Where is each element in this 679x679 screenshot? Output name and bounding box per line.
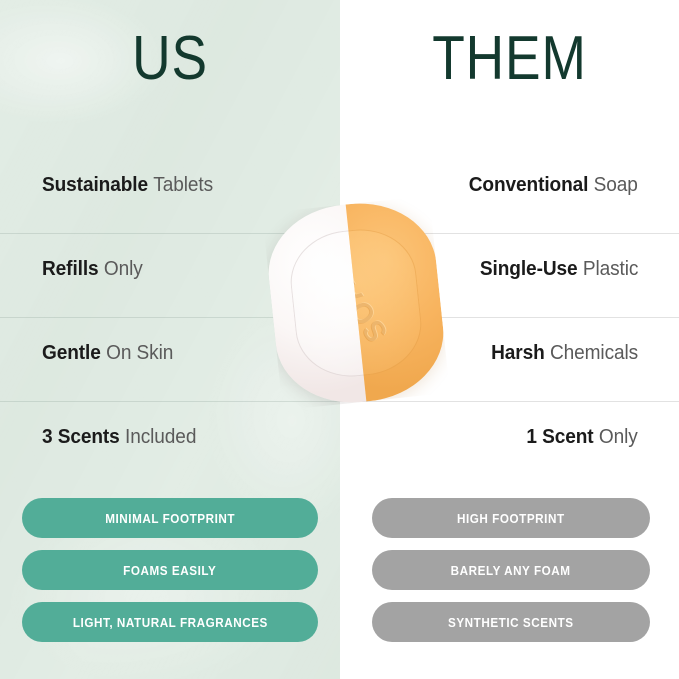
badge-label: FOAMS EASILY [123, 563, 216, 578]
split-soap-bar-image: SOAP [272, 204, 440, 402]
feature-light: On Skin [106, 341, 173, 364]
feature-light: Soap [594, 173, 638, 196]
us-badge-list: MINIMAL FOOTPRINT FOAMS EASILY LIGHT, NA… [22, 498, 318, 654]
badge-pill: MINIMAL FOOTPRINT [22, 498, 318, 538]
badge-label: LIGHT, NATURAL FRAGRANCES [72, 615, 267, 630]
feature-light: Included [125, 425, 196, 448]
feature-text: 3 Scents Included [42, 424, 196, 450]
feature-row: 3 Scents Included [0, 402, 340, 486]
comparison-infographic: US THEM Sustainable Tablets Refills Only… [0, 0, 679, 679]
feature-light: Only [104, 257, 143, 280]
feature-light: Tablets [153, 173, 213, 196]
feature-bold: Gentle [42, 341, 101, 364]
badge-pill: LIGHT, NATURAL FRAGRANCES [22, 602, 318, 642]
feature-bold: Refills [42, 257, 99, 280]
feature-bold: Single-Use [480, 257, 578, 280]
feature-row: 1 Scent Only [340, 402, 679, 486]
badge-label: MINIMAL FOOTPRINT [105, 511, 235, 526]
feature-text: Sustainable Tablets [42, 172, 213, 198]
feature-bold: Sustainable [42, 173, 148, 196]
feature-text: Conventional Soap [469, 172, 638, 198]
badge-pill: BARELY ANY FOAM [372, 550, 650, 590]
them-heading: THEM [364, 28, 656, 90]
badge-pill: HIGH FOOTPRINT [372, 498, 650, 538]
badge-label: HIGH FOOTPRINT [457, 511, 565, 526]
feature-text: Gentle On Skin [42, 340, 173, 366]
feature-light: Only [599, 425, 638, 448]
them-badge-list: HIGH FOOTPRINT BARELY ANY FOAM SYNTHETIC… [372, 498, 650, 654]
feature-bold: Harsh [491, 341, 545, 364]
feature-text: Single-Use Plastic [480, 256, 638, 282]
badge-label: SYNTHETIC SCENTS [448, 615, 574, 630]
feature-text: Refills Only [42, 256, 143, 282]
feature-light: Plastic [582, 257, 638, 280]
badge-pill: FOAMS EASILY [22, 550, 318, 590]
feature-text: Harsh Chemicals [491, 340, 638, 366]
feature-light: Chemicals [550, 341, 638, 364]
feature-text: 1 Scent Only [527, 424, 638, 450]
us-heading: US [24, 28, 316, 90]
badge-pill: SYNTHETIC SCENTS [372, 602, 650, 642]
badge-label: BARELY ANY FOAM [451, 563, 571, 578]
feature-bold: Conventional [469, 173, 589, 196]
feature-bold: 1 Scent [527, 425, 594, 448]
feature-bold: 3 Scents [42, 425, 120, 448]
